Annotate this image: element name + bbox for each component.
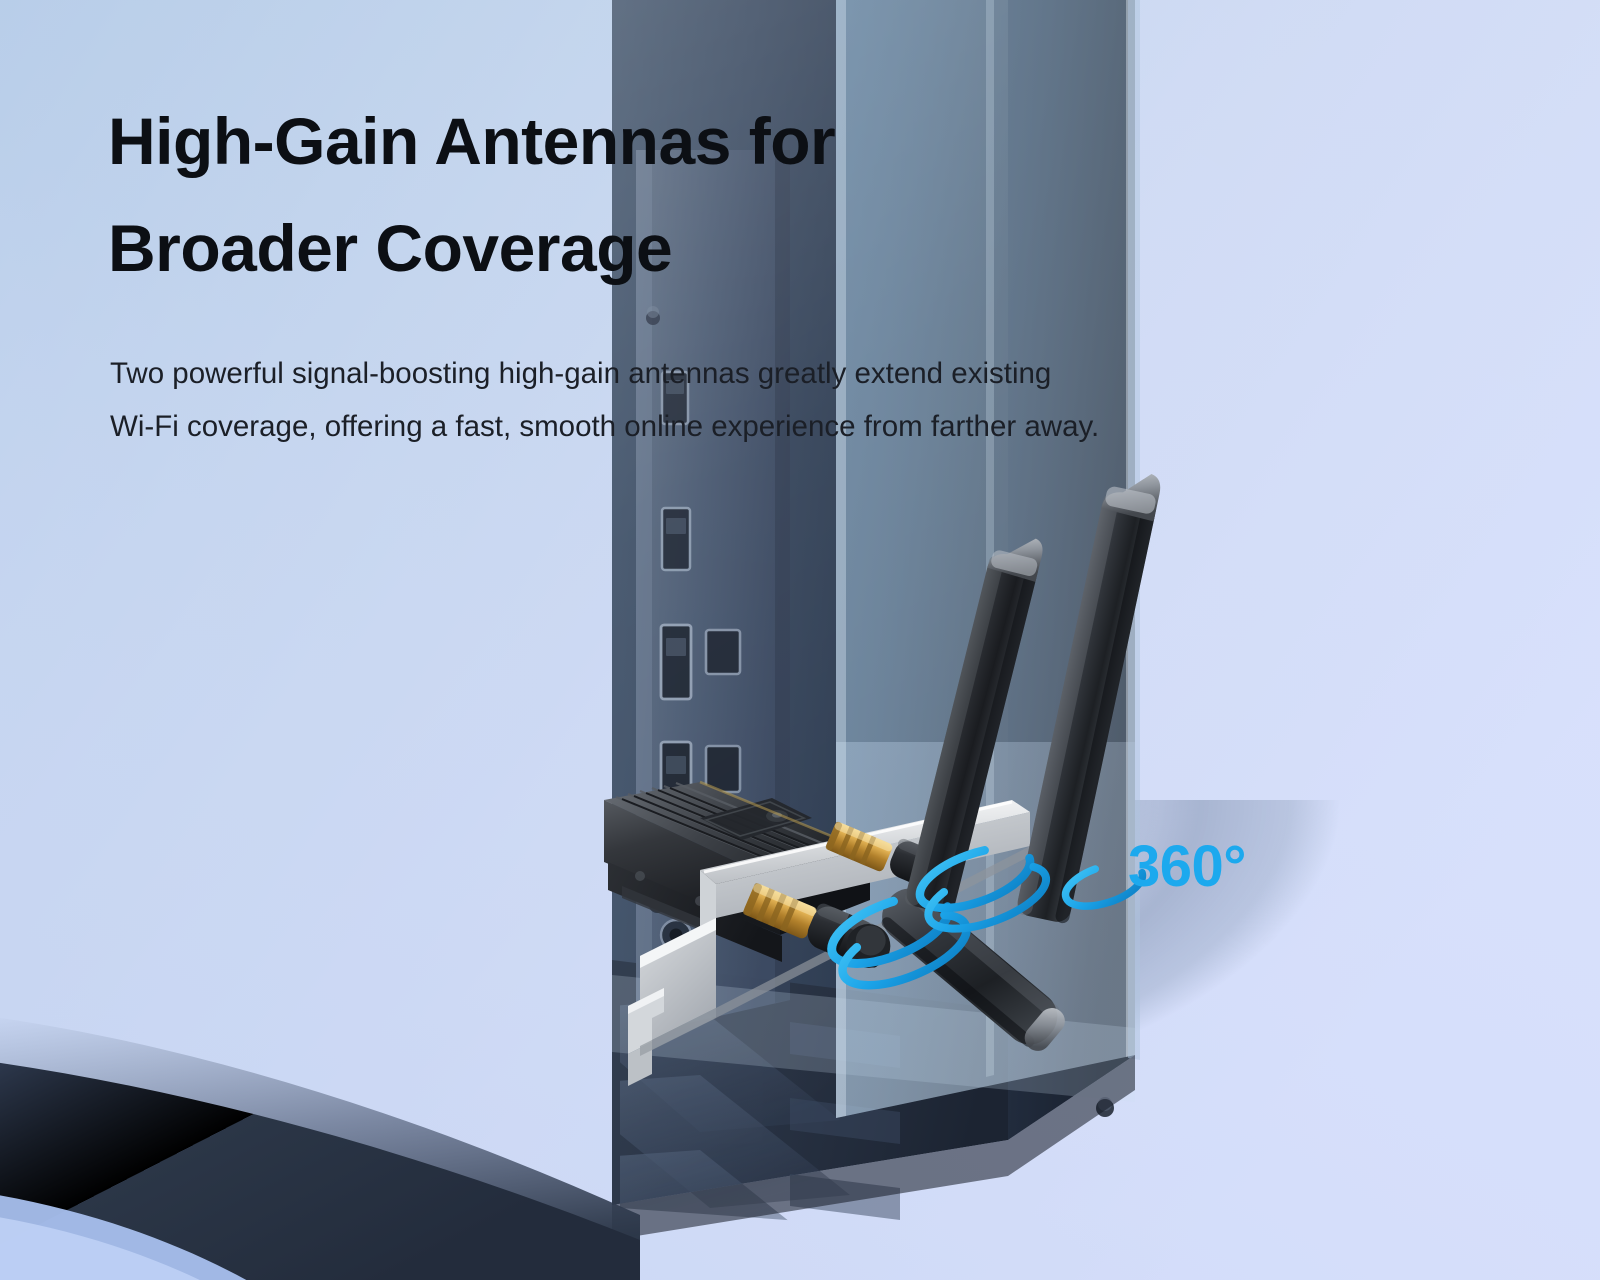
description-text: Two powerful signal-boosting high-gain a… (110, 348, 1470, 453)
headline-line-1: High-Gain Antennas for (108, 88, 1068, 195)
body-line-1: Two powerful signal-boosting high-gain a… (110, 348, 1470, 401)
product-feature-banner: High-Gain Antennas for Broader Coverage … (0, 0, 1600, 1280)
headline-line-2: Broader Coverage (108, 195, 1068, 302)
page-title: High-Gain Antennas for Broader Coverage (108, 88, 1068, 302)
body-line-2: Wi-Fi coverage, offering a fast, smooth … (110, 401, 1470, 454)
rotation-label: 360° (1128, 833, 1246, 900)
